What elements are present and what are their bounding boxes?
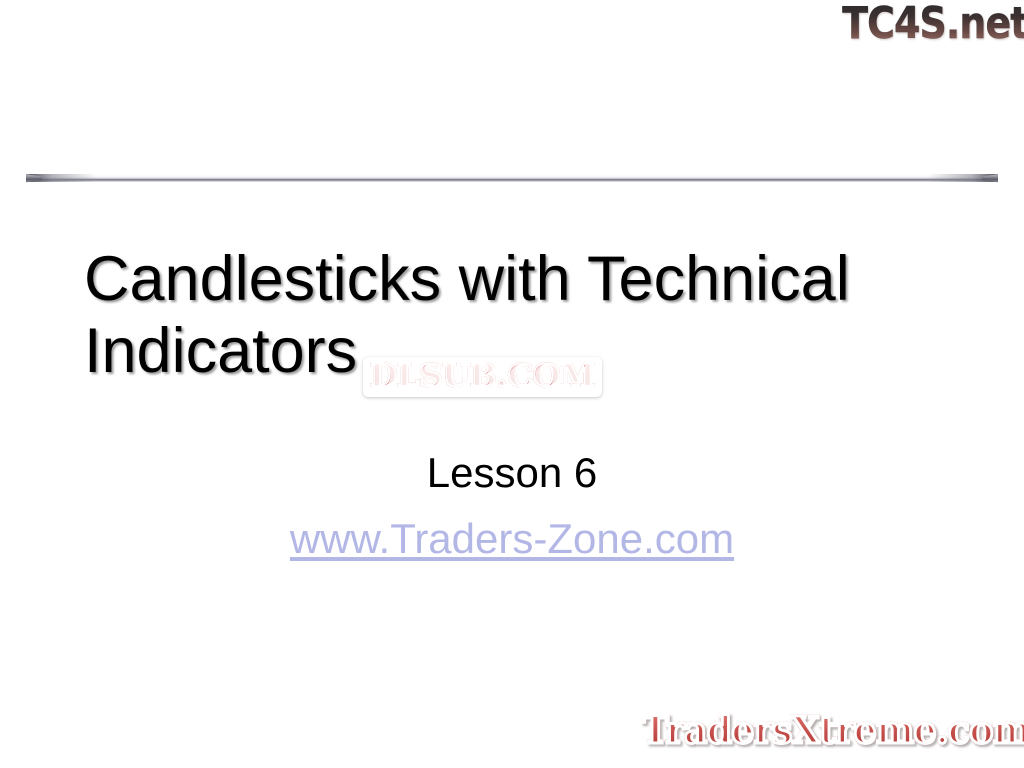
tradersxtreme-watermark-label: TradersXtreme.com bbox=[642, 708, 1024, 752]
tc4s-watermark: TC4S.net bbox=[843, 0, 1024, 50]
title-divider bbox=[26, 170, 998, 192]
title-line-1: Candlesticks with Technical bbox=[84, 243, 924, 315]
dlsub-watermark: DLSUB.COM bbox=[363, 357, 602, 397]
dlsub-watermark-label: DLSUB.COM bbox=[370, 360, 596, 393]
tradersxtreme-watermark: TradersXtreme.com bbox=[642, 708, 1024, 752]
lesson-label: Lesson 6 bbox=[0, 446, 1024, 500]
traders-zone-link[interactable]: www.Traders-Zone.com bbox=[290, 512, 734, 566]
subtitle-block: Lesson 6 www.Traders-Zone.com bbox=[0, 446, 1024, 566]
divider-bar bbox=[26, 174, 998, 182]
presentation-slide: TC4S.net Candlesticks with Technical Ind… bbox=[0, 0, 1024, 768]
